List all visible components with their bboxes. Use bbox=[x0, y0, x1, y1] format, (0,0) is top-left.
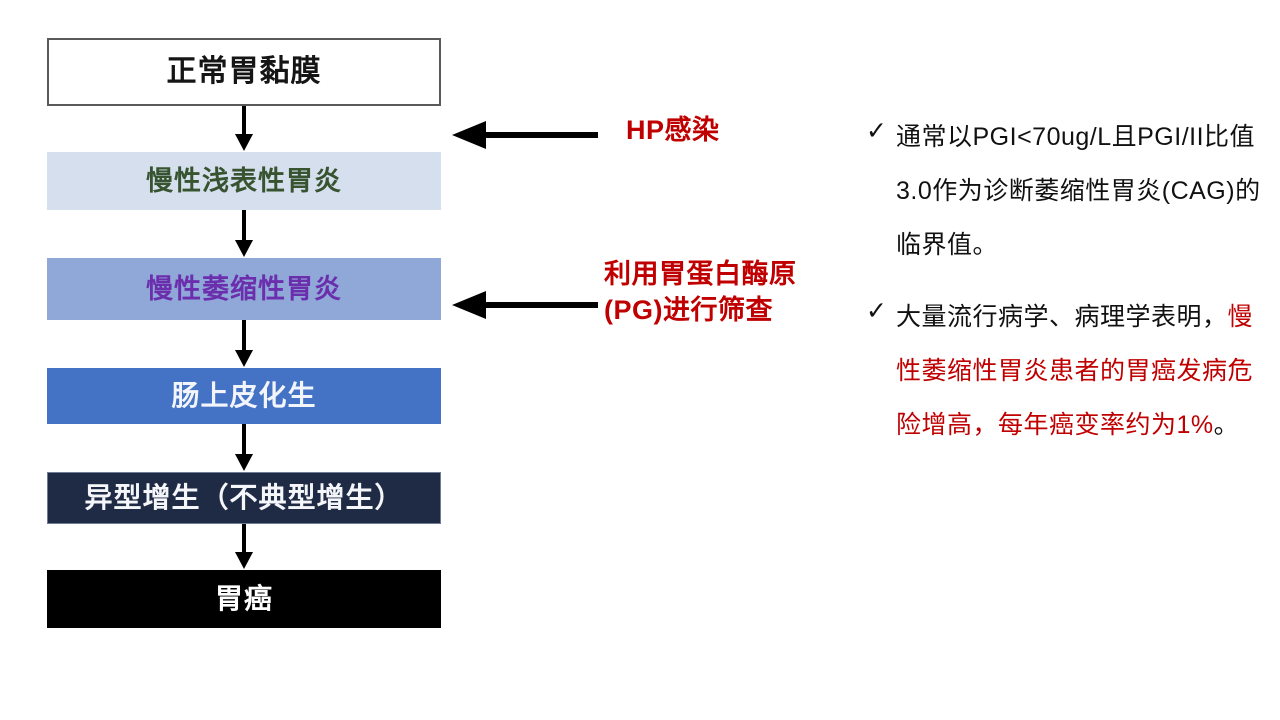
annotation-arrow-pg-screening bbox=[452, 288, 598, 322]
annotation-arrow-hp-infection bbox=[452, 118, 598, 152]
progression-flowchart: 正常胃黏膜 慢性浅表性胃炎 慢性萎缩性胃炎 bbox=[47, 38, 441, 628]
connector-superficial-to-atrophic bbox=[47, 210, 441, 258]
connector-metaplasia-to-dysplasia bbox=[47, 424, 441, 472]
note-text-pgi-threshold: 通常以PGI<70ug/L且PGI/II比值3.0作为诊断萎缩性胃炎(CAG)的… bbox=[896, 110, 1262, 272]
connector-dysplasia-to-cancer bbox=[47, 524, 441, 570]
flow-node-dysplasia-label: 异型增生（不典型增生） bbox=[84, 484, 403, 512]
flow-node-gastric-cancer: 胃癌 bbox=[47, 570, 441, 628]
checkmark-icon: ✓ bbox=[866, 110, 896, 152]
flow-node-normal: 正常胃黏膜 bbox=[47, 38, 441, 106]
flow-node-superficial-gastritis: 慢性浅表性胃炎 bbox=[47, 152, 441, 210]
flow-node-atrophic-gastritis-label: 慢性萎缩性胃炎 bbox=[146, 276, 342, 303]
flow-node-superficial-gastritis-label: 慢性浅表性胃炎 bbox=[146, 168, 342, 195]
connector-atrophic-to-metaplasia bbox=[47, 320, 441, 368]
connector-normal-to-superficial bbox=[47, 106, 441, 152]
clinical-notes-panel: ✓ 通常以PGI<70ug/L且PGI/II比值3.0作为诊断萎缩性胃炎(CAG… bbox=[866, 110, 1262, 470]
list-item: ✓ 大量流行病学、病理学表明，慢性萎缩性胃炎患者的胃癌发病危险增高，每年癌变率约… bbox=[866, 290, 1262, 452]
note-segment-period: 。 bbox=[1214, 411, 1240, 439]
annotation-label-hp-infection: HP感染 bbox=[626, 115, 720, 146]
flow-node-intestinal-metaplasia-label: 肠上皮化生 bbox=[171, 382, 316, 410]
list-item: ✓ 通常以PGI<70ug/L且PGI/II比值3.0作为诊断萎缩性胃炎(CAG… bbox=[866, 110, 1262, 272]
flow-node-normal-label: 正常胃黏膜 bbox=[167, 57, 322, 87]
flow-node-gastric-cancer-label: 胃癌 bbox=[215, 585, 273, 613]
slide-canvas: 正常胃黏膜 慢性浅表性胃炎 慢性萎缩性胃炎 bbox=[0, 0, 1280, 720]
annotation-label-pg-screening: 利用胃蛋白酶原(PG)进行筛查 bbox=[604, 256, 844, 329]
flow-node-dysplasia: 异型增生（不典型增生） bbox=[47, 472, 441, 524]
flow-node-intestinal-metaplasia: 肠上皮化生 bbox=[47, 368, 441, 424]
flow-node-atrophic-gastritis: 慢性萎缩性胃炎 bbox=[47, 258, 441, 320]
note-text-cancer-risk: 大量流行病学、病理学表明，慢性萎缩性胃炎患者的胃癌发病危险增高，每年癌变率约为1… bbox=[896, 290, 1262, 452]
note-segment-plain: 大量流行病学、病理学表明， bbox=[896, 303, 1228, 331]
checkmark-icon: ✓ bbox=[866, 290, 896, 332]
note-segment-plain: 通常以PGI<70ug/L且PGI/II比值3.0作为诊断萎缩性胃炎(CAG)的… bbox=[896, 123, 1261, 259]
